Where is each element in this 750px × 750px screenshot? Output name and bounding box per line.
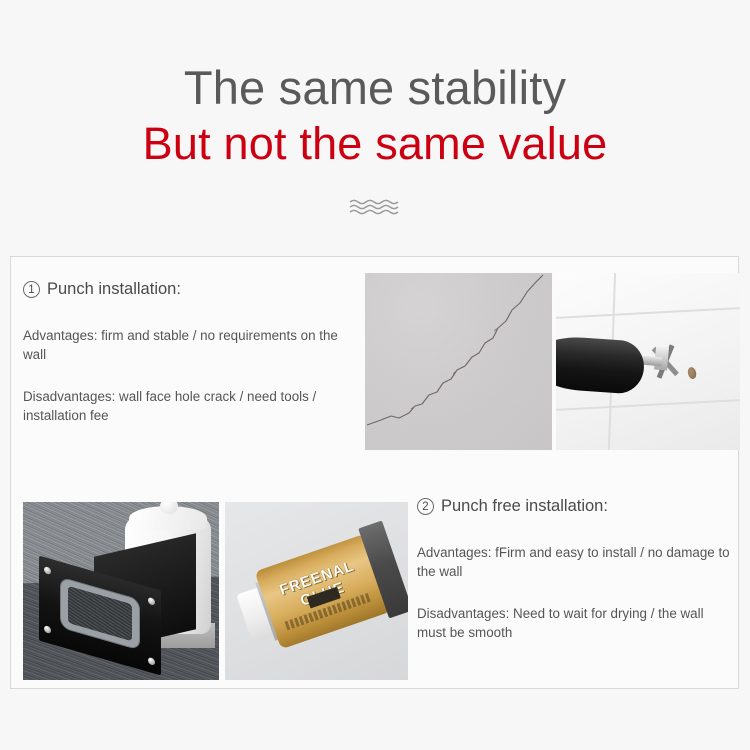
wave-icon (349, 197, 401, 217)
glue-photo: FREENAL GLUE (225, 502, 408, 680)
section-1-title-row: 1Punch installation: (23, 279, 358, 300)
section-1-advantages: Advantages: firm and stable / no require… (23, 326, 358, 364)
bracket-cutout (59, 576, 139, 650)
installation-comparison-panel: 1Punch installation: Advantages: firm an… (10, 256, 739, 689)
section-1-disadvantages: Disadvantages: wall face hole crack / ne… (23, 387, 358, 425)
crack-line-icon (365, 273, 552, 450)
drill-body (556, 335, 646, 396)
section-2-text: 2Punch free installation: Advantages: fF… (417, 496, 733, 642)
bracket-screw (44, 566, 51, 575)
section-2-advantages: Advantages: fFirm and easy to install / … (417, 543, 733, 581)
page-title-line1: The same stability (0, 62, 750, 115)
page-title-line2: But not the same value (0, 119, 750, 169)
bracket-photo (23, 502, 219, 680)
section-punch-free-installation: FREENAL GLUE 2Punch free installation: A… (11, 485, 738, 690)
section-2-number-badge: 2 (417, 498, 434, 515)
bracket-screw (148, 657, 155, 666)
bracket-cutout-interior (67, 586, 131, 641)
section-punch-installation: 1Punch installation: Advantages: firm an… (11, 257, 738, 465)
header: The same stability But not the same valu… (0, 0, 750, 169)
section-2-title-row: 2Punch free installation: (417, 496, 733, 517)
section-1-title: Punch installation: (47, 280, 181, 298)
section-1-number-badge: 1 (23, 281, 40, 298)
section-2-disadvantages: Disadvantages: Need to wait for drying /… (417, 604, 733, 642)
section-1-text: 1Punch installation: Advantages: firm an… (23, 279, 358, 425)
bracket-screw (44, 626, 51, 635)
cracked-wall-photo (365, 273, 552, 450)
section-2-title: Punch free installation: (441, 497, 608, 515)
drill-photo (556, 273, 740, 450)
bracket-screw (148, 597, 155, 606)
wavy-divider-ornament (0, 197, 750, 219)
